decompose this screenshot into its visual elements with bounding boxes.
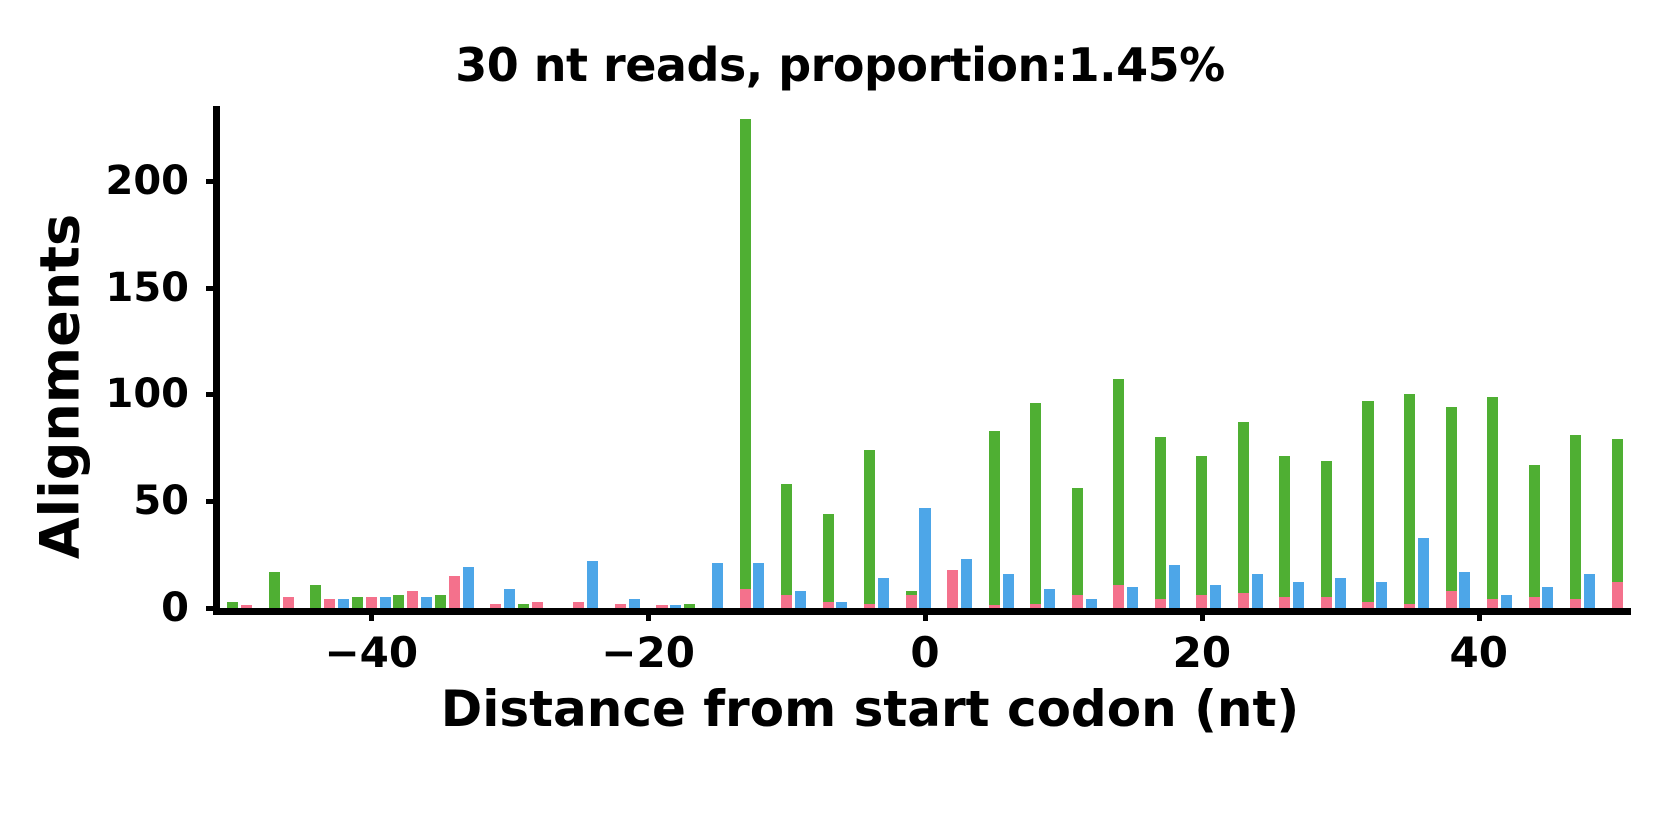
bar xyxy=(1238,593,1249,608)
bar xyxy=(795,591,806,608)
y-tick-mark xyxy=(206,606,219,611)
bar xyxy=(947,570,958,608)
bar xyxy=(449,576,460,608)
bar xyxy=(421,597,432,608)
bar xyxy=(283,597,294,608)
x-tick-label: 0 xyxy=(910,628,939,677)
bar xyxy=(241,605,252,608)
bar xyxy=(1529,465,1540,608)
bar xyxy=(781,595,792,608)
bar xyxy=(1155,599,1166,608)
bar xyxy=(1030,604,1041,608)
bar xyxy=(407,591,418,608)
bar xyxy=(1044,589,1055,608)
chart-title: 30 nt reads, proportion:1.45% xyxy=(0,38,1680,92)
bar xyxy=(1113,379,1124,608)
x-tick-label: 40 xyxy=(1449,628,1507,677)
bar xyxy=(1487,397,1498,608)
bar xyxy=(1612,582,1623,608)
bar xyxy=(1086,599,1097,608)
bar xyxy=(1487,599,1498,608)
bar xyxy=(1446,407,1457,608)
bar xyxy=(740,119,751,608)
bar xyxy=(1113,585,1124,608)
bar xyxy=(352,597,363,608)
bar xyxy=(1570,435,1581,608)
bar xyxy=(781,484,792,608)
bar xyxy=(324,599,335,608)
bar xyxy=(989,605,1000,608)
y-tick-label: 150 xyxy=(69,265,189,311)
bar xyxy=(684,604,695,608)
bar xyxy=(573,602,584,608)
bar xyxy=(919,508,930,608)
y-tick-mark xyxy=(206,179,219,184)
bar xyxy=(1529,597,1540,608)
x-tick-mark xyxy=(646,608,651,621)
bar xyxy=(1321,597,1332,608)
bar xyxy=(310,585,321,608)
bar xyxy=(1030,403,1041,608)
y-tick-mark xyxy=(206,499,219,504)
bar xyxy=(587,561,598,608)
bar xyxy=(753,563,764,608)
bar xyxy=(1196,595,1207,608)
x-tick-mark xyxy=(1477,608,1482,621)
bar xyxy=(670,605,681,608)
bar xyxy=(823,514,834,608)
y-tick-label: 100 xyxy=(69,371,189,417)
bar xyxy=(615,604,626,608)
bar xyxy=(1404,604,1415,608)
bar xyxy=(712,563,723,608)
y-tick-mark xyxy=(206,392,219,397)
bar xyxy=(864,450,875,608)
bar xyxy=(1459,572,1470,608)
bar xyxy=(836,602,847,608)
bar xyxy=(1446,591,1457,608)
bar xyxy=(1252,574,1263,608)
bar xyxy=(1376,582,1387,608)
x-axis-spine xyxy=(213,608,1631,615)
bar xyxy=(1003,574,1014,608)
bar xyxy=(1238,422,1249,608)
x-tick-label: −20 xyxy=(601,628,695,677)
y-tick-label: 200 xyxy=(69,158,189,204)
bar xyxy=(435,595,446,608)
bar xyxy=(1418,538,1429,608)
x-tick-mark xyxy=(369,608,374,621)
plot-area: 050100150200 −40−2002040 xyxy=(219,106,1631,608)
bar xyxy=(1196,456,1207,608)
bar xyxy=(269,572,280,608)
bar xyxy=(1362,401,1373,608)
bar xyxy=(740,589,751,608)
bar xyxy=(961,559,972,608)
bar xyxy=(823,602,834,608)
bar xyxy=(1072,595,1083,608)
bar xyxy=(1072,488,1083,608)
bar xyxy=(1127,587,1138,608)
bar xyxy=(518,604,529,608)
y-tick-label: 0 xyxy=(69,585,189,631)
x-tick-mark xyxy=(923,608,928,621)
bar xyxy=(1210,585,1221,608)
bar xyxy=(532,602,543,608)
bar xyxy=(1321,461,1332,608)
bar xyxy=(1584,574,1595,608)
bar xyxy=(227,602,238,608)
bar xyxy=(1501,595,1512,608)
bar xyxy=(878,578,889,608)
bar xyxy=(906,595,917,608)
bar xyxy=(463,567,474,608)
bar xyxy=(1279,456,1290,608)
bar xyxy=(1570,599,1581,608)
x-tick-mark xyxy=(1200,608,1205,621)
bar xyxy=(393,595,404,608)
bar xyxy=(1169,565,1180,608)
bar xyxy=(864,604,875,608)
bar xyxy=(504,589,515,608)
bar xyxy=(989,431,1000,608)
bar xyxy=(1155,437,1166,608)
bar xyxy=(629,599,640,608)
x-axis-label: Distance from start codon (nt) xyxy=(210,680,1530,738)
bar xyxy=(1279,597,1290,608)
bar xyxy=(490,604,501,608)
x-tick-label: 20 xyxy=(1173,628,1231,677)
bar xyxy=(1542,587,1553,608)
bar xyxy=(366,597,377,608)
y-tick-mark xyxy=(206,286,219,291)
bar xyxy=(380,597,391,608)
bar xyxy=(1404,394,1415,608)
y-tick-label: 50 xyxy=(69,478,189,524)
chart-figure: 30 nt reads, proportion:1.45% Alignments… xyxy=(0,0,1680,840)
x-tick-label: −40 xyxy=(324,628,418,677)
bar xyxy=(1362,602,1373,608)
bar xyxy=(1293,582,1304,608)
bar xyxy=(656,605,667,608)
bar xyxy=(338,599,349,608)
bar xyxy=(1335,578,1346,608)
